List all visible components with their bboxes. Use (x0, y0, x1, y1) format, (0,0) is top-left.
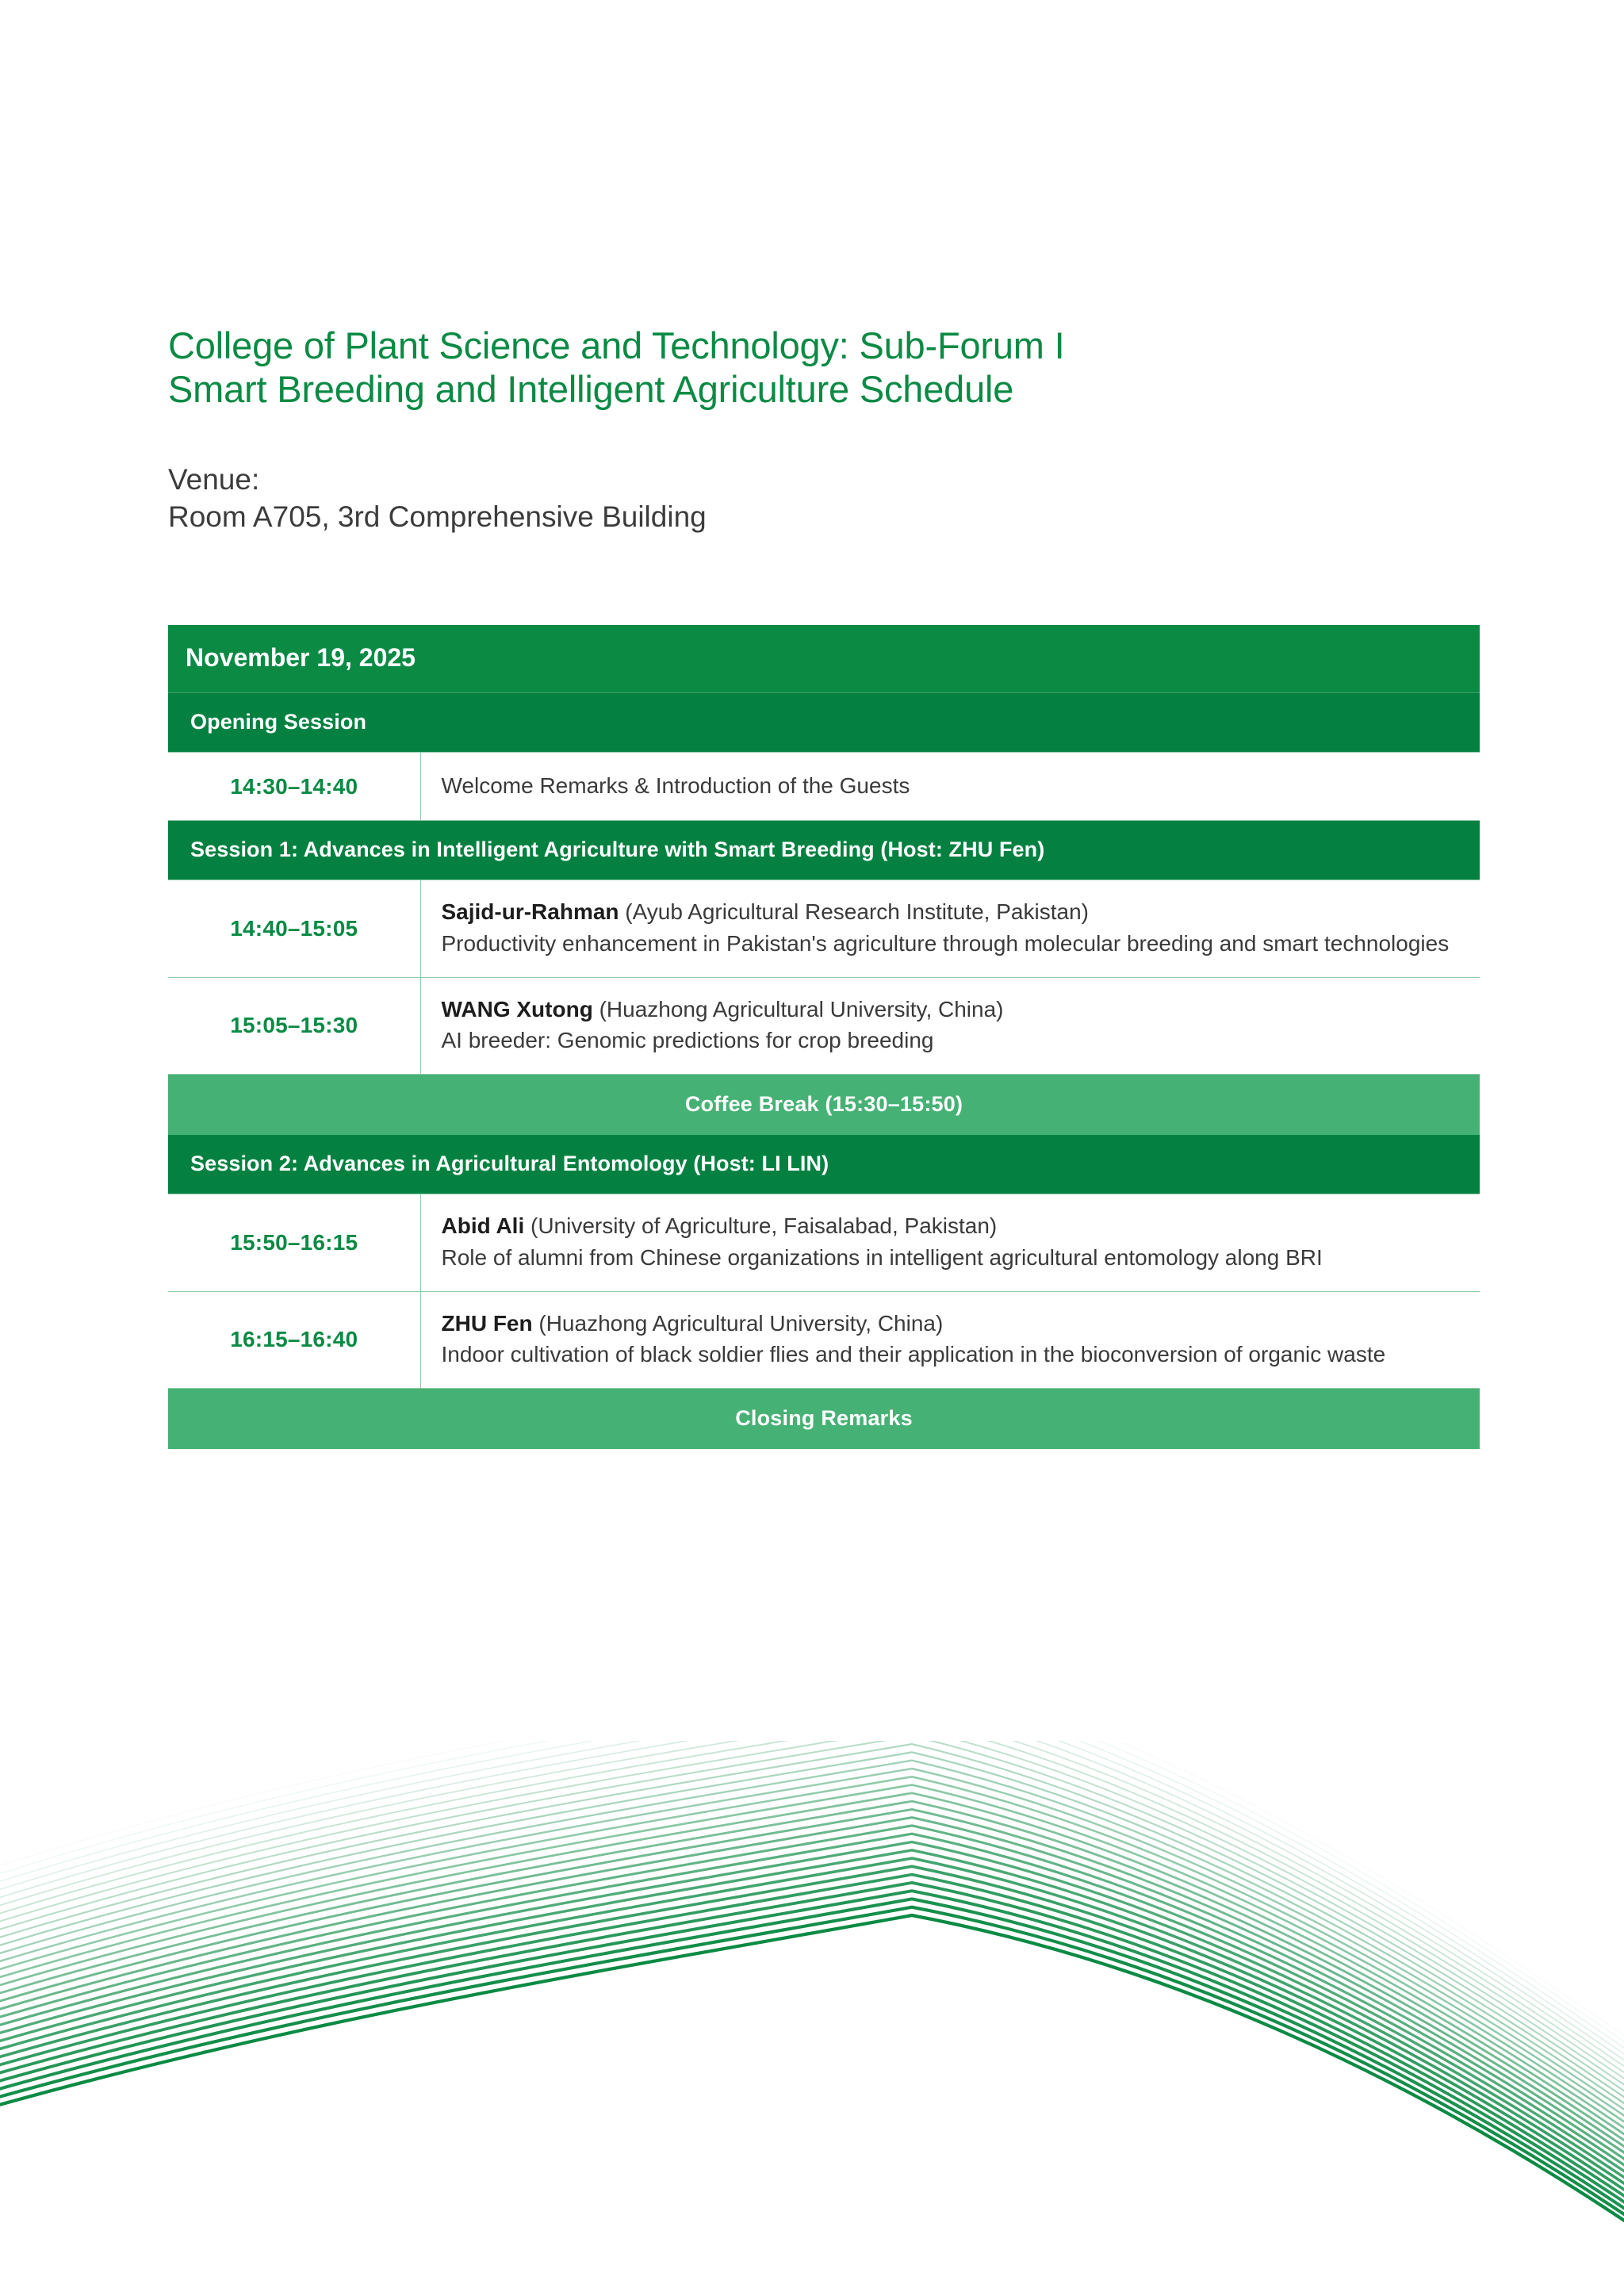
schedule-date-header-row: November 19, 2025 (168, 625, 1480, 693)
schedule-row-time: 14:30–14:40 (168, 753, 420, 821)
speaker-name: WANG Xutong (442, 997, 593, 1022)
talk-title: Role of alumni from Chinese organization… (442, 1242, 1460, 1274)
schedule-row-content: Abid Ali (University of Agriculture, Fai… (420, 1194, 1480, 1292)
speaker-affiliation: (Ayub Agricultural Research Institute, P… (619, 899, 1089, 924)
schedule-row-content: Sajid-ur-Rahman (Ayub Agricultural Resea… (420, 880, 1480, 978)
session-header-row: Session 1: Advances in Intelligent Agric… (168, 821, 1480, 880)
session-header-row: Opening Session (168, 693, 1480, 753)
speaker-name: Sajid-ur-Rahman (442, 899, 619, 924)
session-header-row: Session 2: Advances in Agricultural Ento… (168, 1135, 1480, 1194)
schedule-table-body: November 19, 2025 Opening Session14:30–1… (168, 625, 1480, 1449)
schedule-row-content: ZHU Fen (Huazhong Agricultural Universit… (420, 1291, 1480, 1389)
schedule-row-content: WANG Xutong (Huazhong Agricultural Unive… (420, 977, 1480, 1075)
schedule-table: November 19, 2025 Opening Session14:30–1… (168, 625, 1480, 1449)
wave-lines-decoration (0, 1741, 1624, 2296)
schedule-row-content: Welcome Remarks & Introduction of the Gu… (420, 753, 1480, 821)
session-header-label: Session 2: Advances in Agricultural Ento… (168, 1135, 1480, 1194)
schedule-row-time: 16:15–16:40 (168, 1291, 420, 1389)
page-title-line-1: College of Plant Science and Technology:… (168, 324, 1516, 368)
page-title: College of Plant Science and Technology:… (168, 324, 1516, 412)
schedule-row-time: 14:40–15:05 (168, 880, 420, 978)
schedule-row: 16:15–16:40ZHU Fen (Huazhong Agricultura… (168, 1291, 1480, 1389)
break-row: Closing Remarks (168, 1389, 1480, 1450)
schedule-row-time: 15:05–15:30 (168, 977, 420, 1075)
speaker-name: Abid Ali (442, 1213, 525, 1238)
break-label: Coffee Break (15:30–15:50) (168, 1075, 1480, 1136)
schedule-row: 15:05–15:30WANG Xutong (Huazhong Agricul… (168, 977, 1480, 1075)
break-label: Closing Remarks (168, 1389, 1480, 1450)
venue-block: Venue: Room A705, 3rd Comprehensive Buil… (168, 462, 1516, 536)
speaker-name: ZHU Fen (442, 1311, 533, 1336)
schedule-date-header: November 19, 2025 (168, 625, 1480, 693)
venue-value: Room A705, 3rd Comprehensive Building (168, 499, 1516, 536)
break-row: Coffee Break (15:30–15:50) (168, 1075, 1480, 1136)
speaker-affiliation: (Huazhong Agricultural University, China… (593, 997, 1004, 1022)
speaker-affiliation: (University of Agriculture, Faisalabad, … (524, 1213, 997, 1238)
schedule-row-time: 15:50–16:15 (168, 1194, 420, 1292)
schedule-row: 14:40–15:05Sajid-ur-Rahman (Ayub Agricul… (168, 880, 1480, 978)
talk-title: AI breeder: Genomic predictions for crop… (442, 1025, 1460, 1056)
schedule-row: 15:50–16:15Abid Ali (University of Agric… (168, 1194, 1480, 1292)
page-title-line-2: Smart Breeding and Intelligent Agricultu… (168, 368, 1516, 412)
talk-title: Indoor cultivation of black soldier flie… (442, 1339, 1460, 1370)
session-header-label: Session 1: Advances in Intelligent Agric… (168, 821, 1480, 880)
speaker-affiliation: (Huazhong Agricultural University, China… (533, 1311, 944, 1336)
venue-label: Venue: (168, 462, 1516, 499)
schedule-row: 14:30–14:40Welcome Remarks & Introductio… (168, 753, 1480, 821)
session-header-label: Opening Session (168, 693, 1480, 753)
talk-title: Productivity enhancement in Pakistan's a… (442, 928, 1460, 960)
schedule-page: College of Plant Science and Technology:… (0, 0, 1624, 2296)
